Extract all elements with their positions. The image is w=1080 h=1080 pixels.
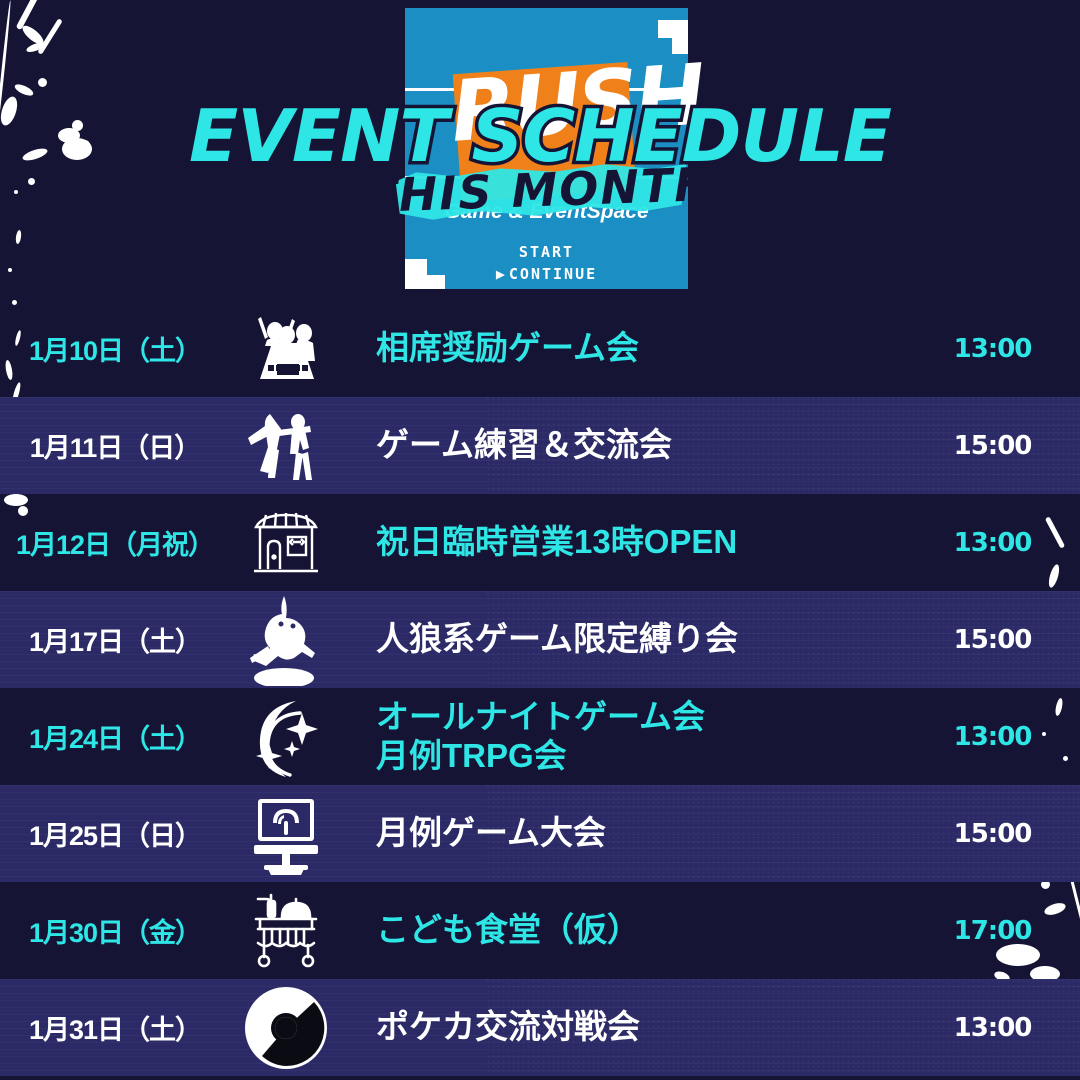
row-time: 15:00 [905, 625, 1080, 655]
row-title: 相席奨励ゲーム会 [342, 329, 905, 367]
shop-storefront-icon [230, 497, 342, 589]
schedule-row[interactable]: 1月10日（土） [0, 300, 1080, 397]
row-title: 人狼系ゲーム限定縛り会 [342, 620, 905, 658]
row-date: 1月25日（日） [0, 814, 230, 853]
row-title-line1: 相席奨励ゲーム会 [376, 329, 905, 367]
row-title: ゲーム練習＆交流会 [342, 426, 905, 464]
row-date: 1月24日（土） [0, 717, 230, 756]
moon-stars-icon [230, 691, 342, 783]
row-title-line1: 月例ゲーム大会 [376, 814, 905, 852]
gaming-monitor-icon [230, 788, 342, 880]
row-time: 17:00 [905, 916, 1080, 946]
row-title: こども食堂（仮） [342, 911, 905, 949]
pokeball-icon [230, 982, 342, 1074]
logo-menu: START ▶CONTINUE [405, 242, 688, 286]
training-duel-icon [230, 400, 342, 492]
row-time: 13:00 [905, 334, 1080, 364]
row-title: ポケカ交流対戦会 [342, 1008, 905, 1046]
row-title-line2: 月例TRPG会 [376, 737, 905, 775]
row-title: オールナイトゲーム会 月例TRPG会 [342, 698, 905, 775]
board-game-players-icon [230, 303, 342, 395]
row-time: 13:00 [905, 528, 1080, 558]
poster-header: RUSH Game & EventSpace START ▶CONTINUE E… [0, 0, 1080, 300]
schedule-row[interactable]: 1月11日（日） ゲーム練習＆交流会 [0, 397, 1080, 494]
row-title: 祝日臨時営業13時OPEN [342, 523, 905, 561]
schedule-list: 1月10日（土） [0, 300, 1080, 1076]
row-date: 1月11日（日） [0, 426, 230, 465]
row-date: 1月30日（金） [0, 911, 230, 950]
werewolf-icon [230, 594, 342, 686]
row-time: 13:00 [905, 1013, 1080, 1043]
schedule-row[interactable]: 1月25日（日） 月例ゲーム [0, 785, 1080, 882]
row-title: 月例ゲーム大会 [342, 814, 905, 852]
row-date: 1月12日（月祝） [0, 523, 230, 562]
row-title-line1: ポケカ交流対戦会 [376, 1008, 905, 1046]
row-date: 1月10日（土） [0, 329, 230, 368]
menu-item-continue[interactable]: ▶CONTINUE [405, 264, 688, 286]
row-time: 13:00 [905, 722, 1080, 752]
schedule-row[interactable]: 1月17日（土） 人狼系ゲーム限定縛り会 15:00 [0, 591, 1080, 688]
poster-canvas: RUSH Game & EventSpace START ▶CONTINUE E… [0, 0, 1080, 1080]
row-title-line1: ゲーム練習＆交流会 [376, 426, 905, 464]
food-cart-icon [230, 885, 342, 977]
row-title-line1: オールナイトゲーム会 [376, 698, 905, 736]
row-time: 15:00 [905, 819, 1080, 849]
row-time: 15:00 [905, 431, 1080, 461]
row-title-line1: こども食堂（仮） [376, 911, 905, 949]
schedule-row[interactable]: 1月30日（金） [0, 882, 1080, 979]
schedule-row[interactable]: 1月24日（土） オールナイトゲーム会 月例TRPG会 13:00 [0, 688, 1080, 785]
menu-arrow-icon: ▶ [496, 265, 507, 283]
row-date: 1月31日（土） [0, 1008, 230, 1047]
row-date: 1月17日（土） [0, 620, 230, 659]
row-title-line1: 人狼系ゲーム限定縛り会 [376, 620, 905, 658]
schedule-row[interactable]: 1月31日（土） ポケカ交流対戦会 13:00 [0, 979, 1080, 1076]
menu-item-continue-label: CONTINUE [509, 265, 597, 283]
schedule-row[interactable]: 1月12日（月祝） 祝日臨時 [0, 494, 1080, 591]
row-title-line1: 祝日臨時営業13時OPEN [376, 523, 905, 561]
menu-item-start[interactable]: START [405, 242, 688, 264]
panel-notch-top-right [658, 20, 688, 38]
